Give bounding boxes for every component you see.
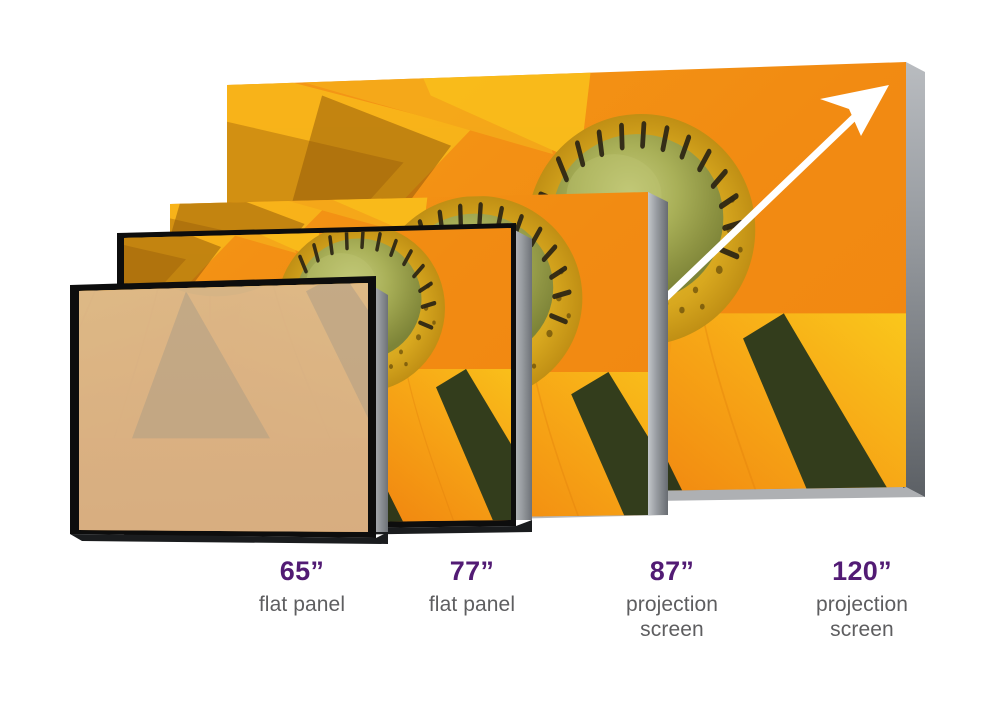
display-87-side-face xyxy=(648,192,668,515)
size-label-120: 120” xyxy=(772,556,952,588)
description-120-line2: screen xyxy=(772,618,952,643)
description-87-line1: projection xyxy=(582,593,762,618)
caption-display-65: 65” flat panel xyxy=(212,556,392,618)
caption-row: 65” flat panel 77” flat panel 87” projec… xyxy=(0,548,1000,678)
display-size-comparison-graphic: 65” flat panel 77” flat panel 87” projec… xyxy=(0,0,1000,720)
size-label-65: 65” xyxy=(212,556,392,588)
description-77-line1: flat panel xyxy=(382,593,562,618)
description-87-line2: screen xyxy=(582,618,762,643)
display-120-side-face xyxy=(906,62,925,497)
description-65-line1: flat panel xyxy=(212,593,392,618)
size-label-87: 87” xyxy=(582,556,762,588)
size-label-77: 77” xyxy=(382,556,562,588)
caption-display-77: 77” flat panel xyxy=(382,556,562,618)
description-120-line1: projection xyxy=(772,593,952,618)
caption-display-87: 87” projection screen xyxy=(582,556,762,642)
caption-display-120: 120” projection screen xyxy=(772,556,952,642)
